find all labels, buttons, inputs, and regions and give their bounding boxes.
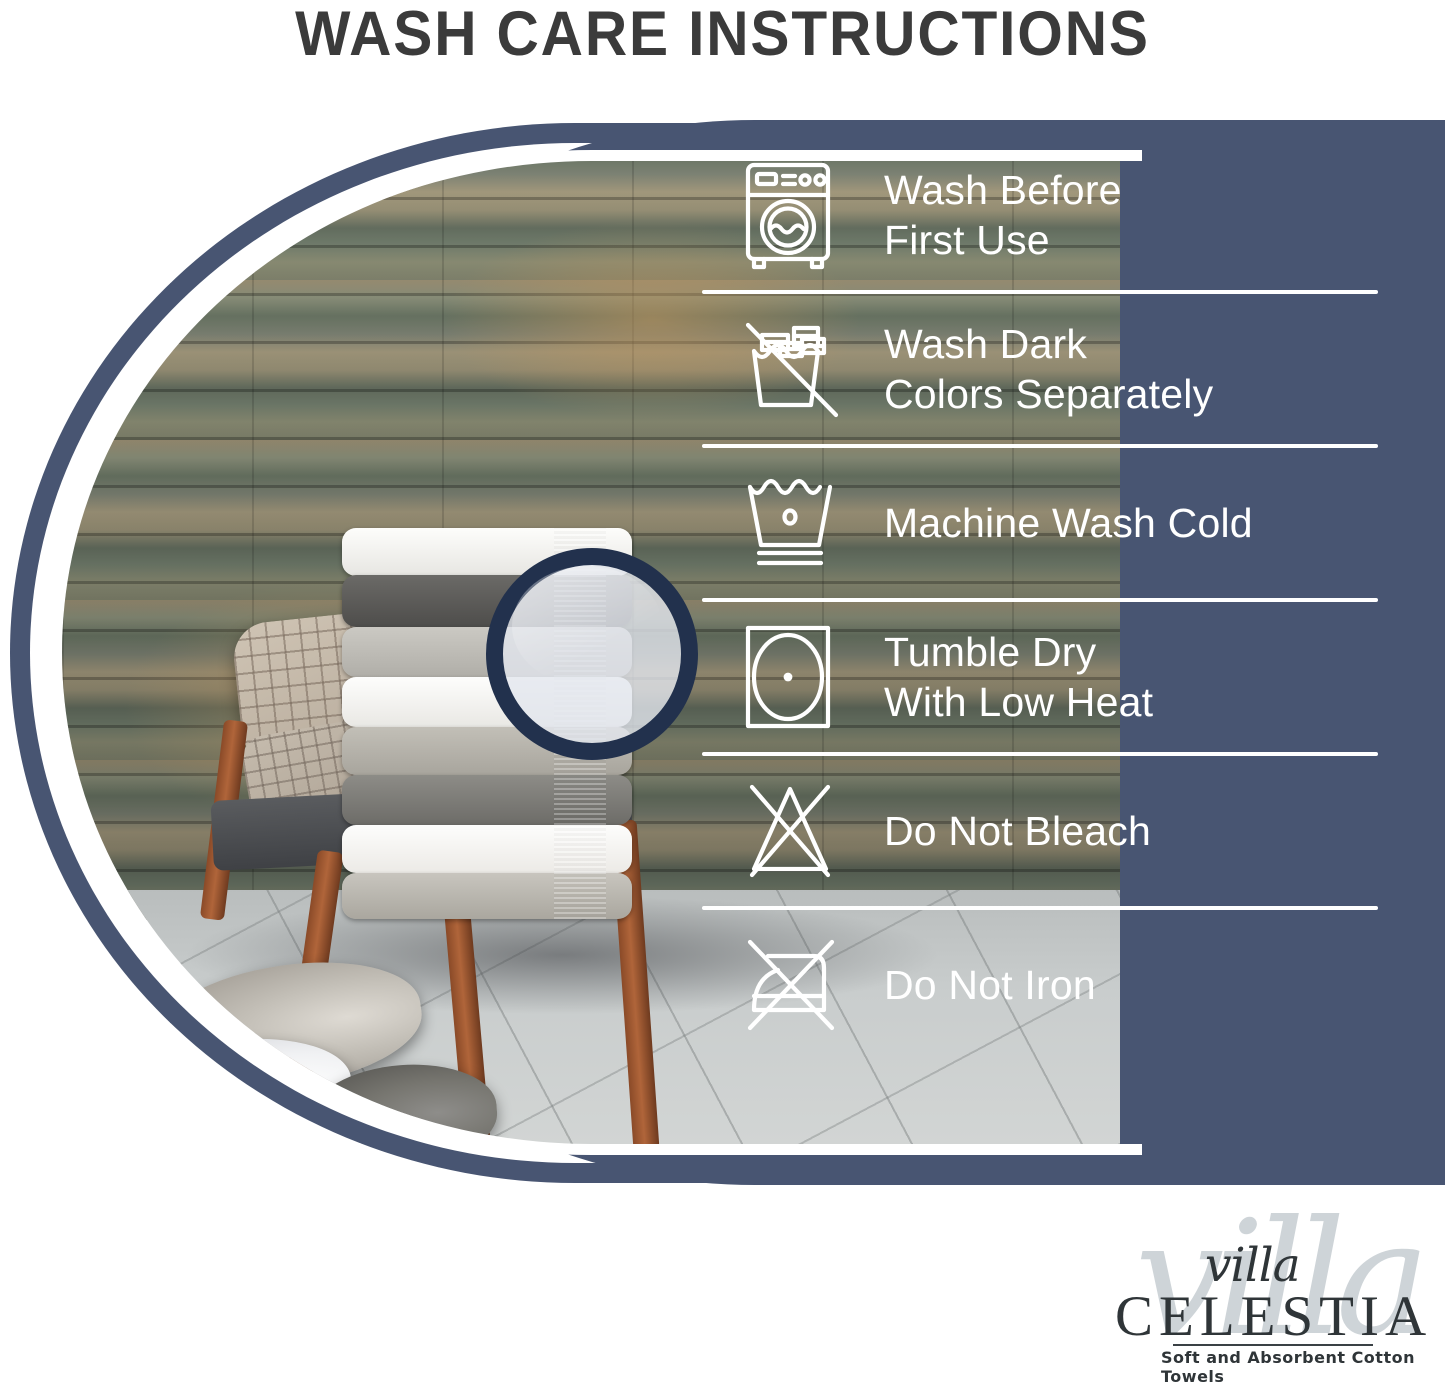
care-row-label: Machine Wash Cold xyxy=(848,498,1253,548)
brand-logo: villa villa CELESTIA Soft and Absorbent … xyxy=(1105,1222,1435,1367)
tumble-dry-low-heat-icon xyxy=(700,622,848,732)
care-instruction-list: Wash Before First Use Wash Dark Colors S… xyxy=(700,140,1390,1060)
care-row-wash-dark-colors-separately[interactable]: Wash Dark Colors Separately xyxy=(700,294,1390,444)
logo-divider xyxy=(1173,1344,1373,1346)
care-row-label: Tumble Dry With Low Heat xyxy=(848,627,1153,727)
washing-machine-icon xyxy=(700,159,848,271)
do-not-iron-icon xyxy=(700,936,848,1034)
care-row-machine-wash-cold[interactable]: Machine Wash Cold xyxy=(700,448,1390,598)
logo-wordmark: CELESTIA xyxy=(1115,1284,1432,1349)
do-not-bleach-triangle-icon xyxy=(700,781,848,881)
page-title: WASH CARE INSTRUCTIONS xyxy=(51,0,1395,70)
care-row-label: Do Not Bleach xyxy=(848,806,1151,856)
care-row-do-not-bleach[interactable]: Do Not Bleach xyxy=(700,756,1390,906)
care-row-tumble-dry-low-heat[interactable]: Tumble Dry With Low Heat xyxy=(700,602,1390,752)
care-row-label: Wash Dark Colors Separately xyxy=(848,319,1213,419)
care-row-label: Wash Before First Use xyxy=(848,165,1122,265)
logo-tagline: Soft and Absorbent Cotton Towels xyxy=(1161,1348,1435,1386)
machine-wash-cold-tub-icon xyxy=(700,475,848,571)
care-row-wash-before-first-use[interactable]: Wash Before First Use xyxy=(700,140,1390,290)
care-row-label: Do Not Iron xyxy=(848,960,1096,1010)
no-mixed-laundry-basket-icon xyxy=(700,317,848,421)
magnifier-lens-icon xyxy=(486,548,698,760)
care-row-do-not-iron[interactable]: Do Not Iron xyxy=(700,910,1390,1060)
